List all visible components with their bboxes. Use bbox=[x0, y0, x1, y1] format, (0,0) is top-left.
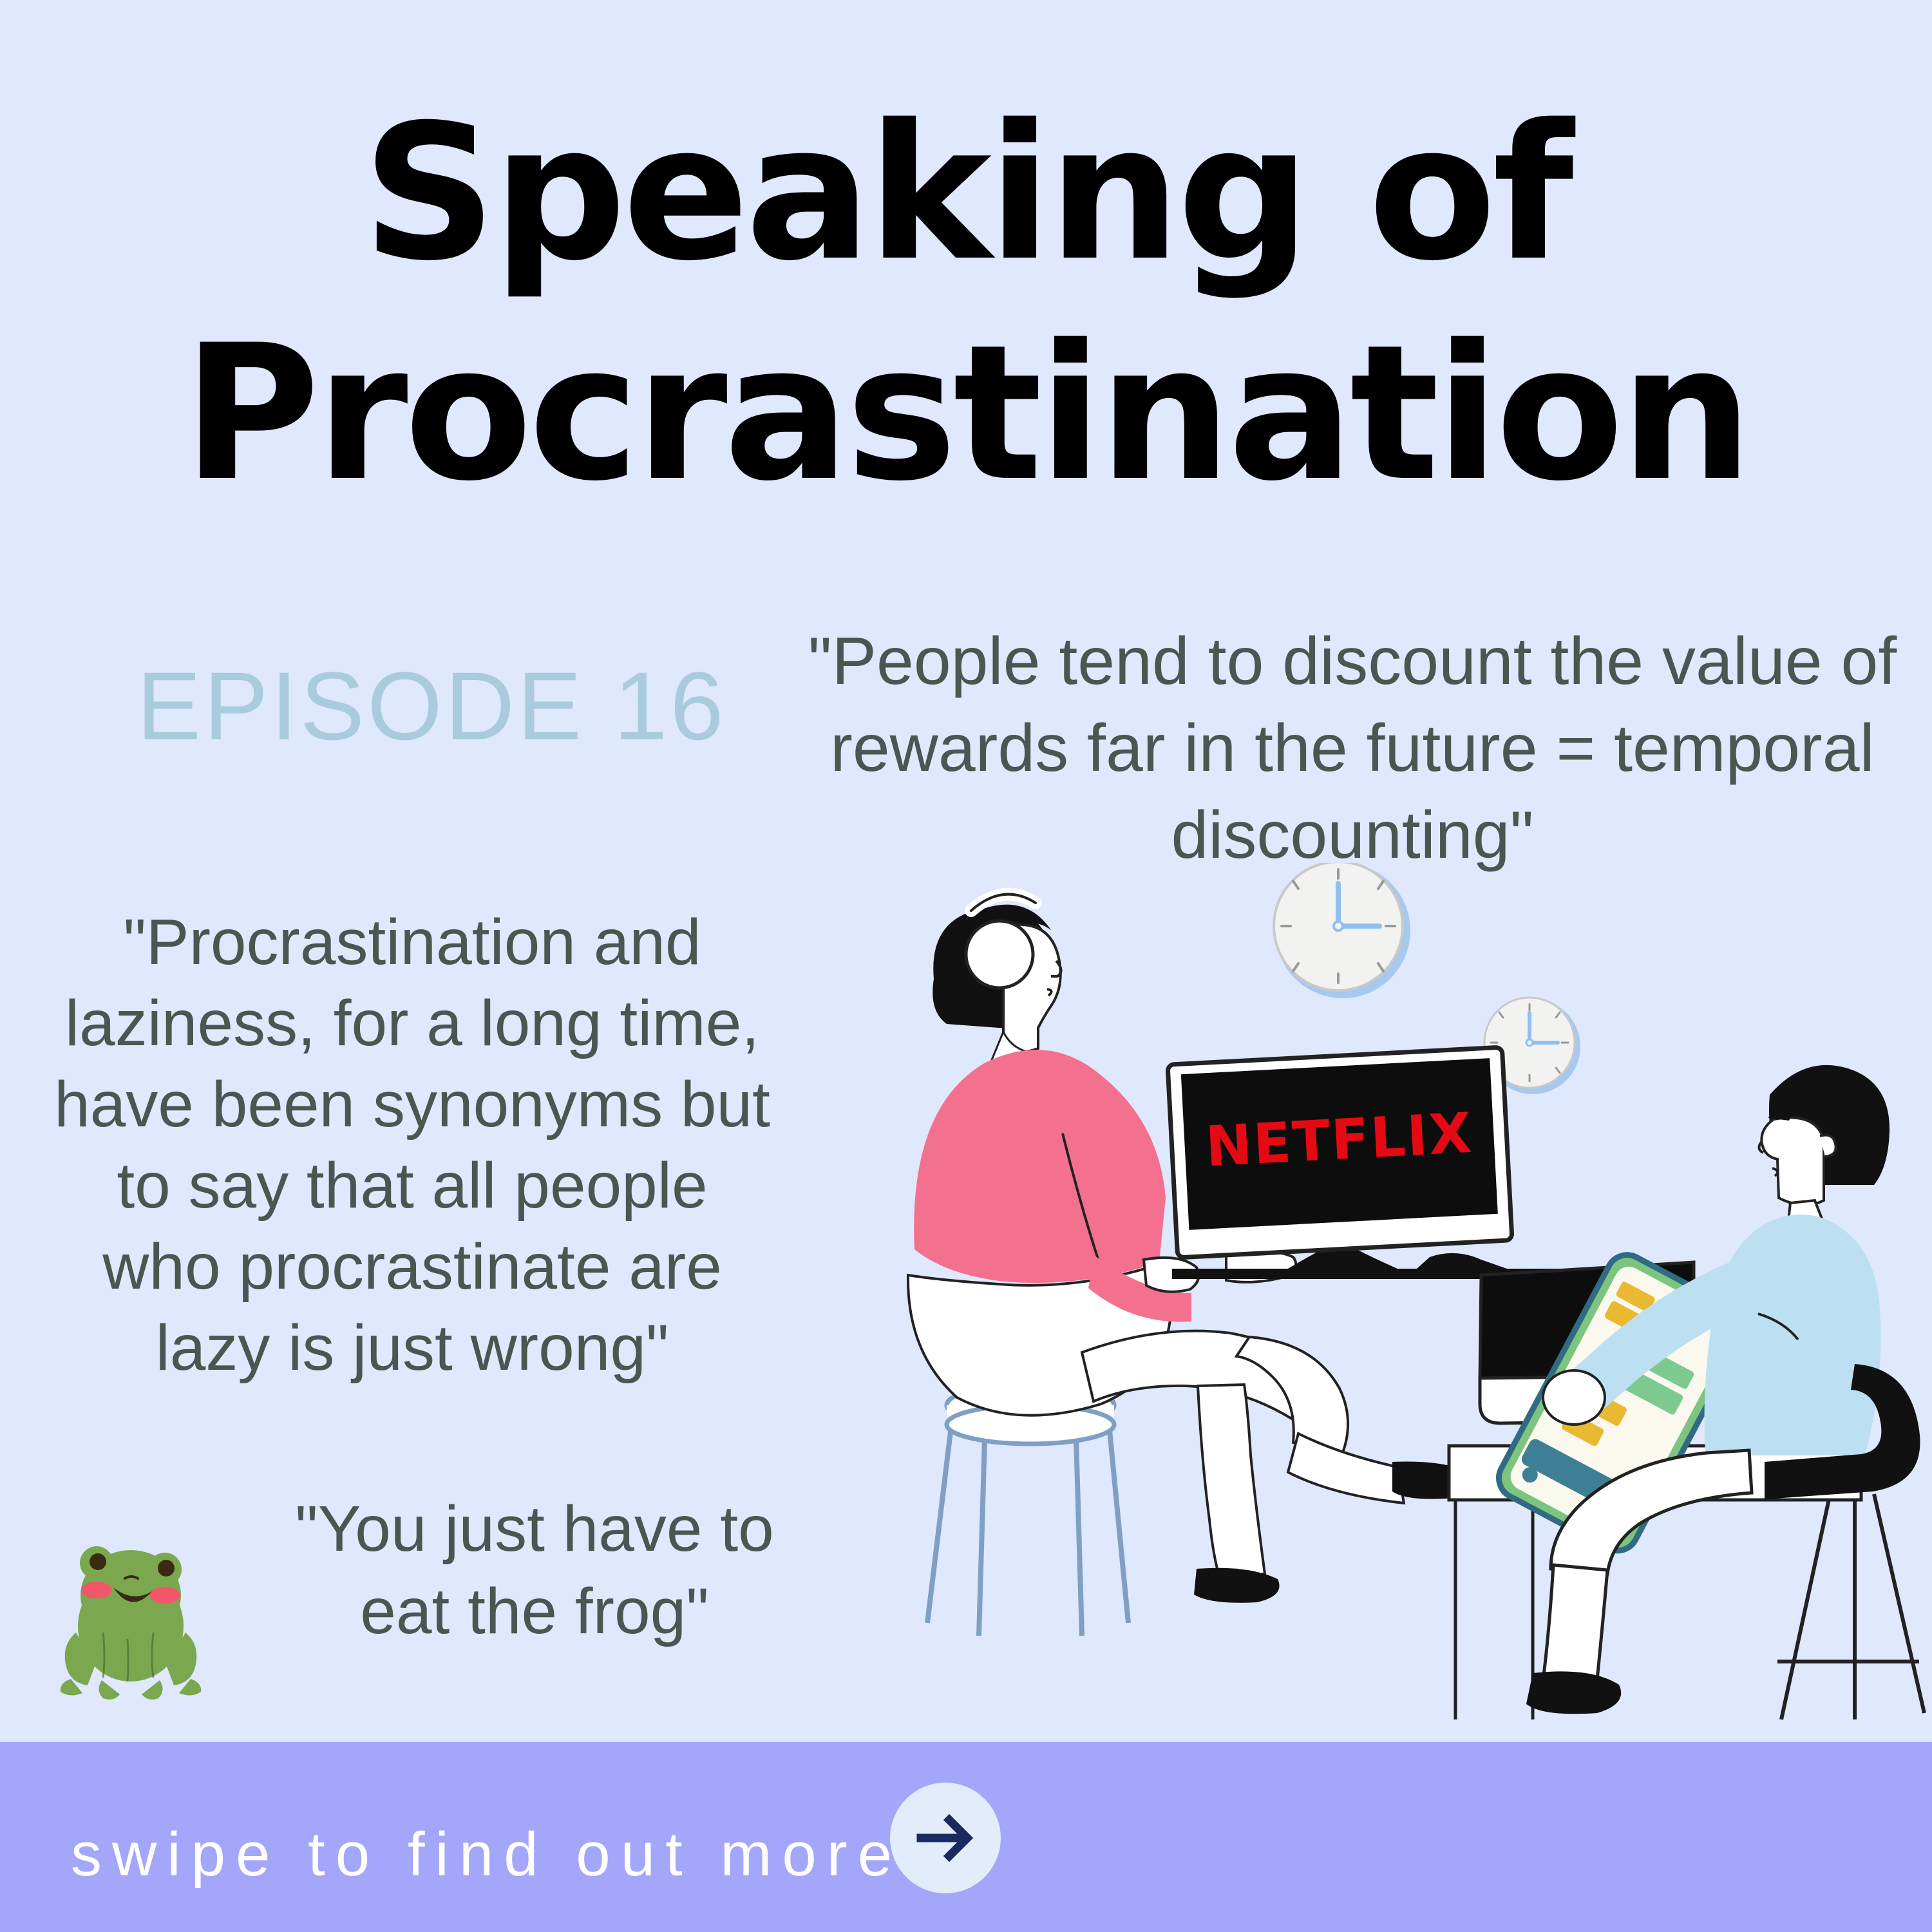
episode-label: EPISODE 16 bbox=[90, 650, 773, 762]
next-arrow-button[interactable] bbox=[890, 1783, 1001, 1893]
quote-temporal-discounting: "People tend to discount the value of re… bbox=[805, 618, 1900, 880]
frog-icon bbox=[57, 1536, 205, 1703]
clock-icon-large bbox=[1274, 863, 1410, 998]
arrow-right-icon bbox=[890, 1783, 1001, 1893]
procrastination-illustration: NETFLIX bbox=[889, 863, 1932, 1752]
stool bbox=[927, 1385, 1128, 1636]
quote-eat-the-frog: "You just have to eat the frog" bbox=[277, 1488, 792, 1653]
post-canvas: Speaking of Procrastination EPISODE 16 "… bbox=[0, 0, 1932, 1932]
page-title: Speaking of Procrastination bbox=[0, 84, 1932, 524]
tv-netflix: NETFLIX bbox=[1168, 1047, 1662, 1279]
swipe-label: swipe to find out more bbox=[71, 1819, 902, 1890]
quote-laziness: "Procrastination and laziness, for a lon… bbox=[52, 902, 773, 1388]
man-on-phone bbox=[1526, 1065, 1924, 1719]
